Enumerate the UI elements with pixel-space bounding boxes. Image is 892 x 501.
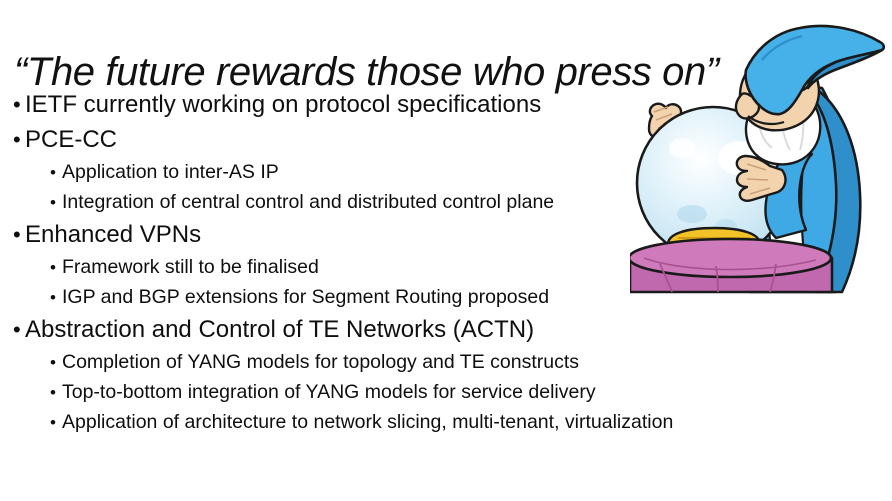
bullet-text: Application to inter-AS IP [62, 158, 820, 187]
bullet-item-5: • Framework still to be finalised [0, 253, 820, 282]
bullet-text: Application of architecture to network s… [62, 408, 820, 437]
bullet-item-9: • Top-to-bottom integration of YANG mode… [0, 378, 820, 407]
bullet-marker-icon: • [50, 253, 62, 282]
bullet-list: • IETF currently working on protocol spe… [0, 88, 820, 438]
bullet-text: Integration of central control and distr… [62, 188, 820, 217]
bullet-marker-icon: • [50, 188, 62, 217]
bullet-marker-icon: • [13, 218, 25, 251]
bullet-text: Framework still to be finalised [62, 253, 820, 282]
bullet-text: Enhanced VPNs [25, 218, 820, 251]
bullet-item-10: • Application of architecture to network… [0, 408, 820, 437]
bullet-item-2: • Application to inter-AS IP [0, 158, 820, 187]
bullet-marker-icon: • [50, 378, 62, 407]
bullet-item-6: • IGP and BGP extensions for Segment Rou… [0, 283, 820, 312]
bullet-text: IGP and BGP extensions for Segment Routi… [62, 283, 820, 312]
slide-canvas: “The future rewards those who press on” … [0, 0, 892, 501]
bullet-marker-icon: • [13, 313, 25, 346]
bullet-item-4: • Enhanced VPNs [0, 218, 820, 251]
bullet-text: Abstraction and Control of TE Networks (… [25, 313, 820, 346]
bullet-item-8: • Completion of YANG models for topology… [0, 348, 820, 377]
bullet-marker-icon: • [50, 348, 62, 377]
bullet-text: Completion of YANG models for topology a… [62, 348, 820, 377]
bullet-marker-icon: • [50, 158, 62, 187]
bullet-marker-icon: • [50, 283, 62, 312]
bullet-item-7: • Abstraction and Control of TE Networks… [0, 313, 820, 346]
bullet-text: PCE-CC [25, 123, 820, 156]
bullet-item-3: • Integration of central control and dis… [0, 188, 820, 217]
bullet-item-0: • IETF currently working on protocol spe… [0, 88, 820, 121]
bullet-marker-icon: • [13, 123, 25, 156]
bullet-marker-icon: • [13, 88, 25, 121]
slide-title: “The future rewards those who press on” [14, 51, 774, 93]
bullet-text: IETF currently working on protocol speci… [25, 88, 820, 121]
bullet-text: Top-to-bottom integration of YANG models… [62, 378, 820, 407]
bullet-item-1: • PCE-CC [0, 123, 820, 156]
bullet-marker-icon: • [50, 408, 62, 437]
